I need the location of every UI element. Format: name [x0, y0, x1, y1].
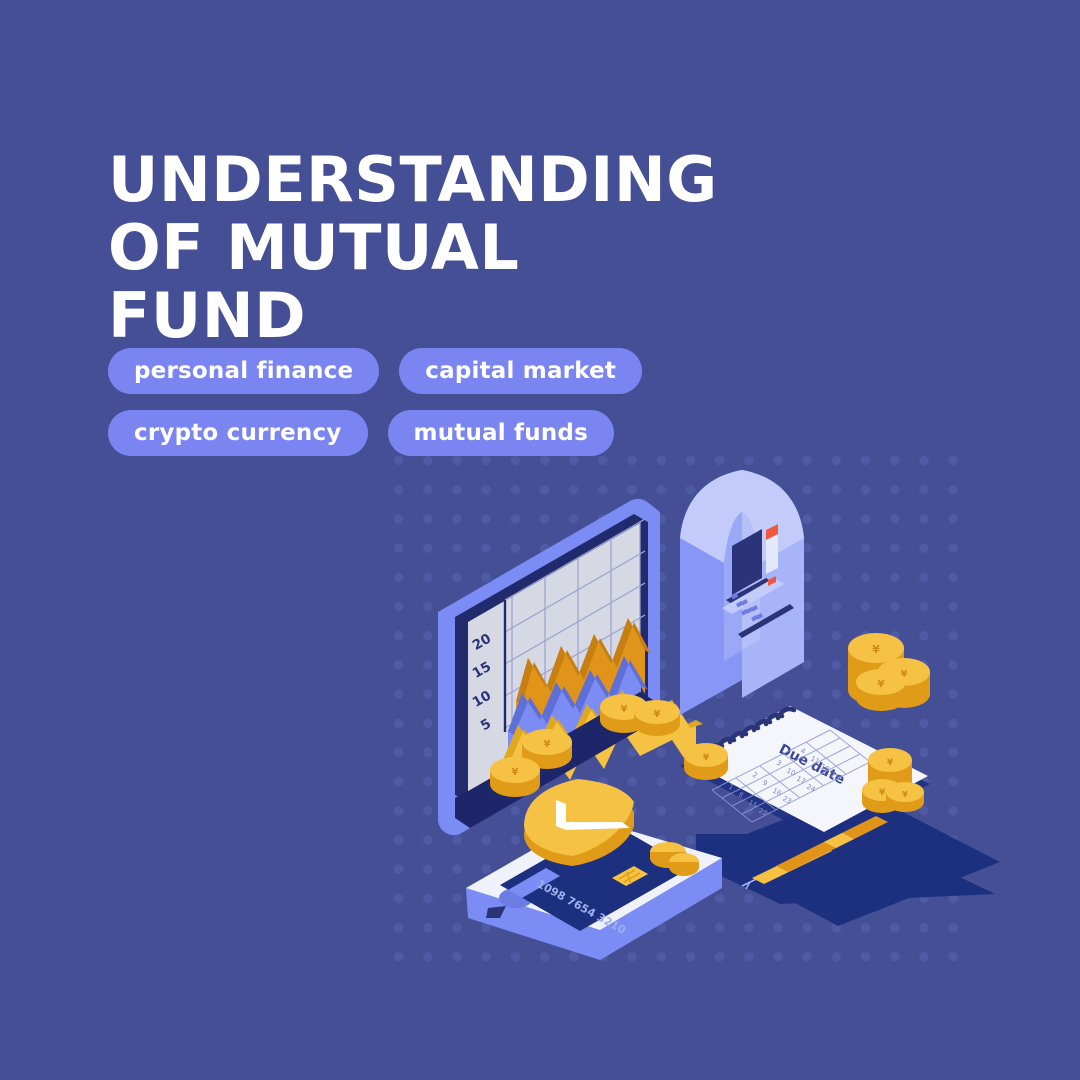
svg-text:¥: ¥	[544, 739, 551, 750]
svg-text:¥: ¥	[879, 788, 886, 798]
svg-text:¥: ¥	[621, 704, 628, 715]
poster-canvas: UNDERSTANDING OF MUTUAL FUND personal fi…	[0, 0, 1080, 1080]
svg-text:¥: ¥	[703, 753, 710, 763]
svg-text:¥: ¥	[878, 679, 885, 690]
atm-machine	[680, 470, 804, 715]
svg-text:¥: ¥	[872, 643, 880, 656]
svg-text:¥: ¥	[887, 758, 894, 768]
gold-coins-right: ¥ ¥ ¥	[848, 633, 930, 711]
isometric-finance-illustration: 20 15 10 5	[0, 0, 1080, 1080]
svg-text:¥: ¥	[902, 790, 908, 799]
clock-hand-hour	[556, 800, 566, 830]
calendar-coin: ¥	[684, 743, 728, 780]
svg-text:¥: ¥	[512, 767, 519, 778]
svg-text:¥: ¥	[654, 709, 661, 720]
